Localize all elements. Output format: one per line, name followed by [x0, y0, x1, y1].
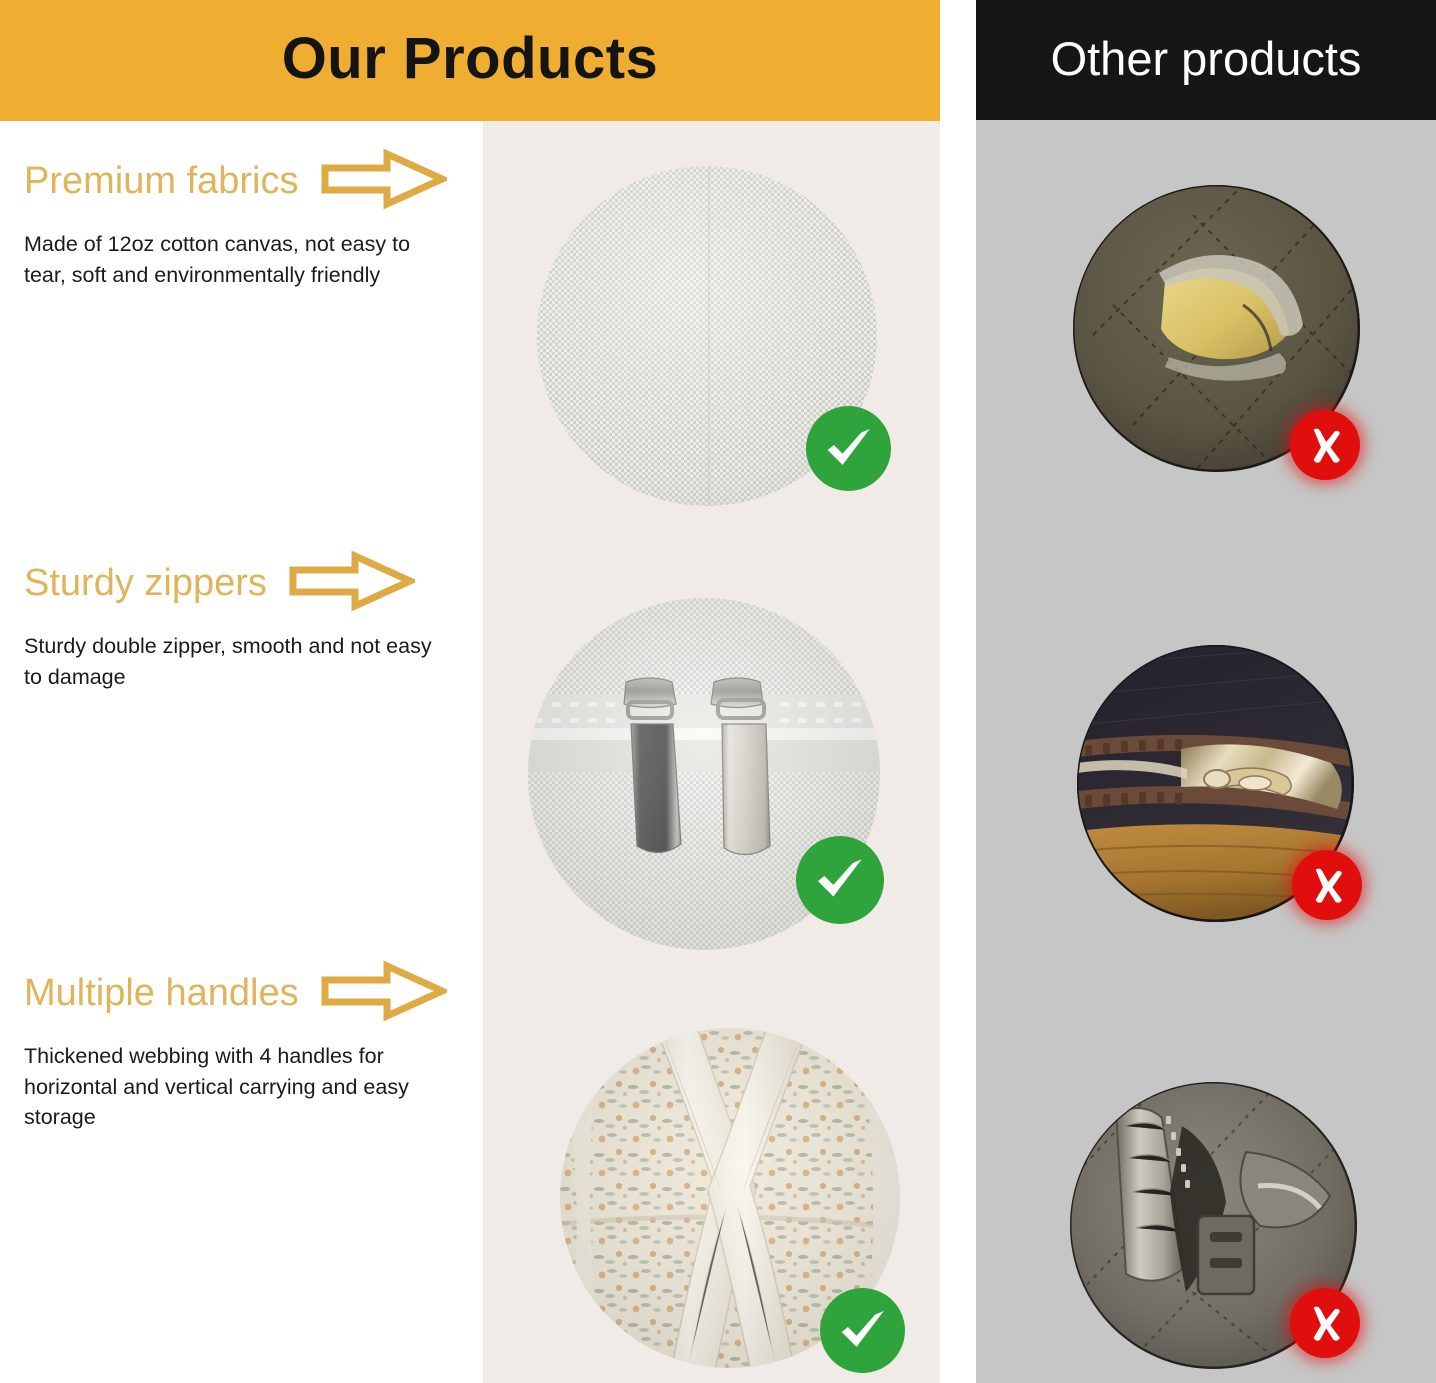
cross-badge-other-fabric [1290, 410, 1360, 480]
check-badge-multiple-handles [820, 1288, 905, 1373]
feature-sturdy-zippers-head: Sturdy zippers [24, 557, 474, 609]
right-arrow-icon [289, 551, 415, 616]
feature-multiple-handles-description: Thickened webbing with 4 handles for hor… [24, 1041, 444, 1133]
feature-sturdy-zippers: Sturdy zippers Sturdy double zipper, smo… [24, 557, 474, 692]
feature-premium-fabrics-description: Made of 12oz cotton canvas, not easy to … [24, 229, 444, 290]
our-products-header: Our Products [0, 0, 940, 121]
product-comparison-infographic: Our Products Premium fabrics Made of 12o… [0, 0, 1436, 1383]
check-badge-sturdy-zippers [796, 836, 884, 924]
cross-badge-other-handle [1290, 1288, 1360, 1358]
cross-icon [1300, 420, 1350, 470]
check-icon [809, 849, 871, 911]
feature-multiple-handles: Multiple handles Thickened webbing with … [24, 967, 474, 1133]
feature-premium-fabrics-head: Premium fabrics [24, 155, 474, 207]
right-arrow-icon [321, 149, 447, 214]
cross-icon [1302, 860, 1352, 910]
feature-premium-fabrics: Premium fabrics Made of 12oz cotton canv… [24, 155, 474, 290]
check-icon [833, 1301, 893, 1361]
our-products-title: Our Products [282, 30, 659, 88]
feature-sturdy-zippers-title: Sturdy zippers [24, 564, 267, 602]
cross-badge-other-zipper [1292, 850, 1362, 920]
check-icon [819, 419, 879, 479]
cross-icon [1300, 1298, 1350, 1348]
feature-multiple-handles-title: Multiple handles [24, 974, 299, 1012]
other-products-header: Other products [976, 0, 1436, 120]
other-products-title: Other products [1051, 35, 1362, 82]
feature-multiple-handles-head: Multiple handles [24, 967, 474, 1019]
feature-premium-fabrics-title: Premium fabrics [24, 162, 299, 200]
feature-sturdy-zippers-description: Sturdy double zipper, smooth and not eas… [24, 631, 444, 692]
right-arrow-icon [321, 961, 447, 1026]
check-badge-premium-fabrics [806, 406, 891, 491]
our-products-panel: Our Products Premium fabrics Made of 12o… [0, 0, 940, 1383]
